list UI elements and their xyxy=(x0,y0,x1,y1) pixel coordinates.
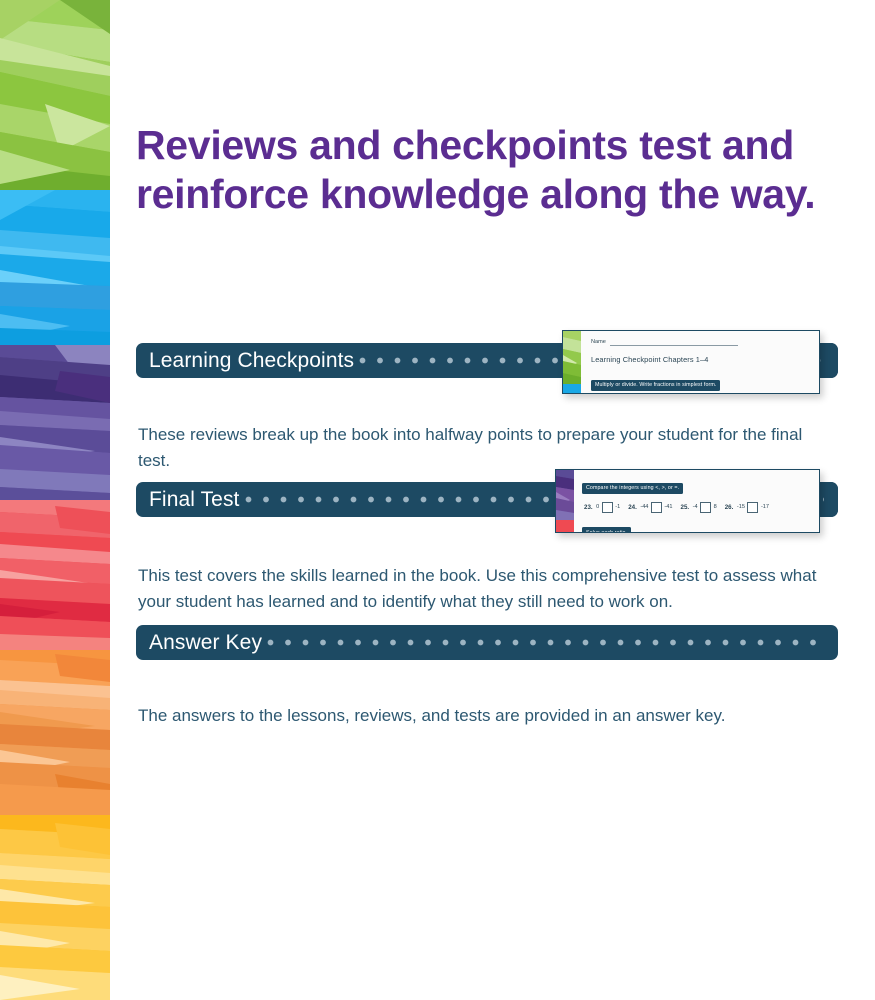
red-facets-icon xyxy=(0,500,110,650)
problem-number: 26. xyxy=(725,504,734,511)
decorative-color-stripe xyxy=(0,0,110,1000)
paragraph-learning-checkpoints: These reviews break up the book into hal… xyxy=(138,422,818,474)
worksheet-thumbnail-checkpoint[interactable]: Name Learning Checkpoint Chapters 1–4 Mu… xyxy=(562,330,820,394)
thumbnail-worksheet-body: Name Learning Checkpoint Chapters 1–4 Mu… xyxy=(581,331,819,393)
problem-number: 23. xyxy=(584,504,593,511)
stripe-band-red xyxy=(0,500,110,650)
yellow-facets-icon xyxy=(0,815,110,1000)
green-blue-stripe-icon xyxy=(563,331,581,393)
blue-facets-icon xyxy=(0,190,110,345)
problem-right-operand: 8 xyxy=(714,504,717,510)
stripe-band-orange xyxy=(0,650,110,815)
thumbnail-color-stripe xyxy=(556,470,574,532)
worksheet-directive-bottom: Solve each ratio. xyxy=(582,527,631,533)
answer-box[interactable] xyxy=(651,502,662,513)
dotted-rule xyxy=(266,625,824,660)
problem-right-operand: -1 xyxy=(615,504,620,510)
problem-left-operand: 0 xyxy=(596,504,599,510)
section-bar-answer-key[interactable]: Answer Key xyxy=(136,625,838,660)
problem-left-operand: -15 xyxy=(737,504,745,510)
worksheet-title: Learning Checkpoint Chapters 1–4 xyxy=(591,355,811,364)
problem-number: 25. xyxy=(681,504,690,511)
worksheet-thumbnail-final-test[interactable]: Compare the integers using <, >, or =. 2… xyxy=(555,469,820,533)
worksheet-name-row: Name xyxy=(591,338,811,346)
stripe-band-purple xyxy=(0,345,110,500)
section-bar-label: Final Test xyxy=(136,488,240,512)
problem-right-operand: -17 xyxy=(761,504,769,510)
paragraph-final-test: This test covers the skills learned in t… xyxy=(138,563,818,615)
worksheet-problem: 25. -4 8 xyxy=(681,502,717,513)
problem-left-operand: -4 xyxy=(693,504,698,510)
section-bar-label: Learning Checkpoints xyxy=(136,349,354,373)
page-title: Reviews and checkpoints test and reinfor… xyxy=(136,121,836,219)
purple-facets-icon xyxy=(0,345,110,500)
green-facets-icon xyxy=(0,0,110,190)
answer-box[interactable] xyxy=(700,502,711,513)
problem-right-operand: -41 xyxy=(664,504,672,510)
worksheet-problem: 26. -15 -17 xyxy=(725,502,769,513)
stripe-band-green xyxy=(0,0,110,190)
worksheet-problem: 24. -44 -41 xyxy=(628,502,672,513)
paragraph-answer-key: The answers to the lessons, reviews, and… xyxy=(138,703,818,729)
worksheet-problem-row: 23. 0 -1 24. -44 -41 25. -4 xyxy=(582,502,813,513)
worksheet-name-rule xyxy=(610,338,738,346)
answer-box[interactable] xyxy=(602,502,613,513)
stripe-band-yellow xyxy=(0,815,110,1000)
worksheet-problem: 23. 0 -1 xyxy=(584,502,620,513)
stripe-band-blue xyxy=(0,190,110,345)
worksheet-name-label: Name xyxy=(591,339,606,346)
thumbnail-color-stripe xyxy=(563,331,581,393)
main-content: Reviews and checkpoints test and reinfor… xyxy=(136,0,875,1000)
problem-left-operand: -44 xyxy=(640,504,648,510)
section-bar-label: Answer Key xyxy=(136,631,262,655)
worksheet-directive-top: Compare the integers using <, >, or =. xyxy=(582,483,683,494)
problem-number: 24. xyxy=(628,504,637,511)
orange-facets-icon xyxy=(0,650,110,815)
thumbnail-worksheet-body: Compare the integers using <, >, or =. 2… xyxy=(574,470,819,532)
worksheet-directive: Multiply or divide. Write fractions in s… xyxy=(591,380,720,391)
purple-red-stripe-icon xyxy=(556,470,574,532)
answer-box[interactable] xyxy=(747,502,758,513)
